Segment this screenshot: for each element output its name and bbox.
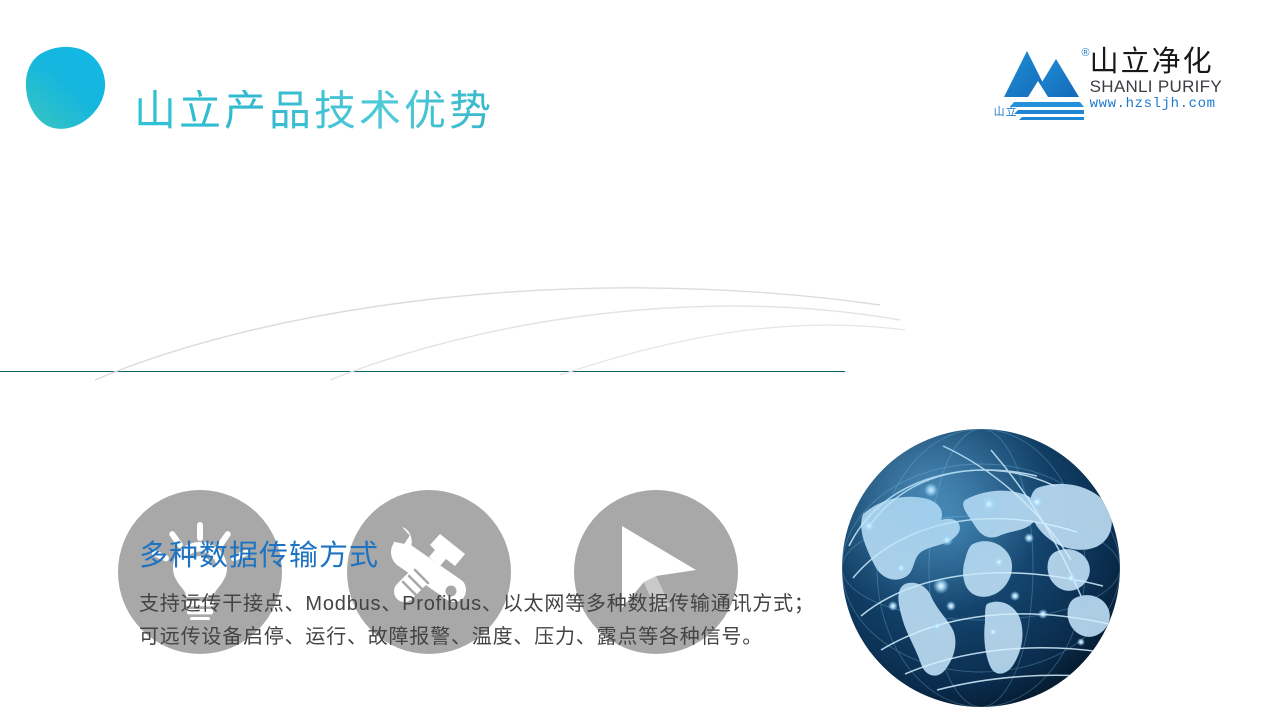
process-diagram bbox=[0, 200, 1280, 530]
logo-english-name: SHANLI PURIFY bbox=[1090, 78, 1222, 96]
caption-line-1: 支持远传干接点、Modbus、Profibus、以太网等多种数据传输通讯方式； bbox=[139, 588, 959, 621]
registered-trademark-icon: ® bbox=[1082, 47, 1090, 59]
caption-line-2: 可远传设备启停、运行、故障报警、温度、压力、露点等各种信号。 bbox=[139, 621, 959, 654]
brand-logo: 山立 ® 山立净化 SHANLI PURIFY www.hzsljh.com bbox=[994, 45, 1222, 127]
logo-website: www.hzsljh.com bbox=[1090, 96, 1222, 113]
logo-mark-label: 山立 bbox=[994, 107, 1018, 118]
header-blob-icon bbox=[22, 45, 110, 133]
caption-heading: 多种数据传输方式 bbox=[139, 538, 959, 574]
caption-block: 多种数据传输方式 支持远传干接点、Modbus、Profibus、以太网等多种数… bbox=[139, 538, 959, 654]
page-title: 山立产品技术优势 bbox=[134, 90, 494, 132]
logo-chinese-name: 山立净化 bbox=[1090, 47, 1222, 78]
twin-mountain-icon: 山立 ® bbox=[994, 45, 1086, 125]
